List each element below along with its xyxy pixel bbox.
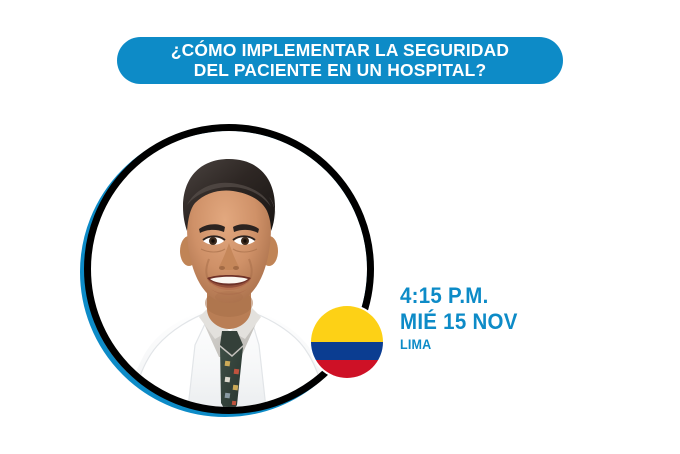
banner-title-line-1: ¿CÓMO IMPLEMENTAR LA SEGURIDAD: [171, 40, 509, 60]
schedule-city: LIMA: [400, 337, 586, 353]
flag-band-blue: [311, 342, 383, 360]
banner-title-line-2: DEL PACIENTE EN UN HOSPITAL?: [194, 60, 487, 80]
schedule-time: 4:15 P.M.: [400, 283, 586, 309]
title-banner: ¿CÓMO IMPLEMENTAR LA SEGURIDAD DEL PACIE…: [117, 37, 563, 84]
schedule-block: 4:15 P.M. MIÉ 15 NOV LIMA: [400, 283, 600, 353]
colombia-flag-icon: [311, 306, 383, 378]
schedule-date: MIÉ 15 NOV: [400, 309, 586, 335]
